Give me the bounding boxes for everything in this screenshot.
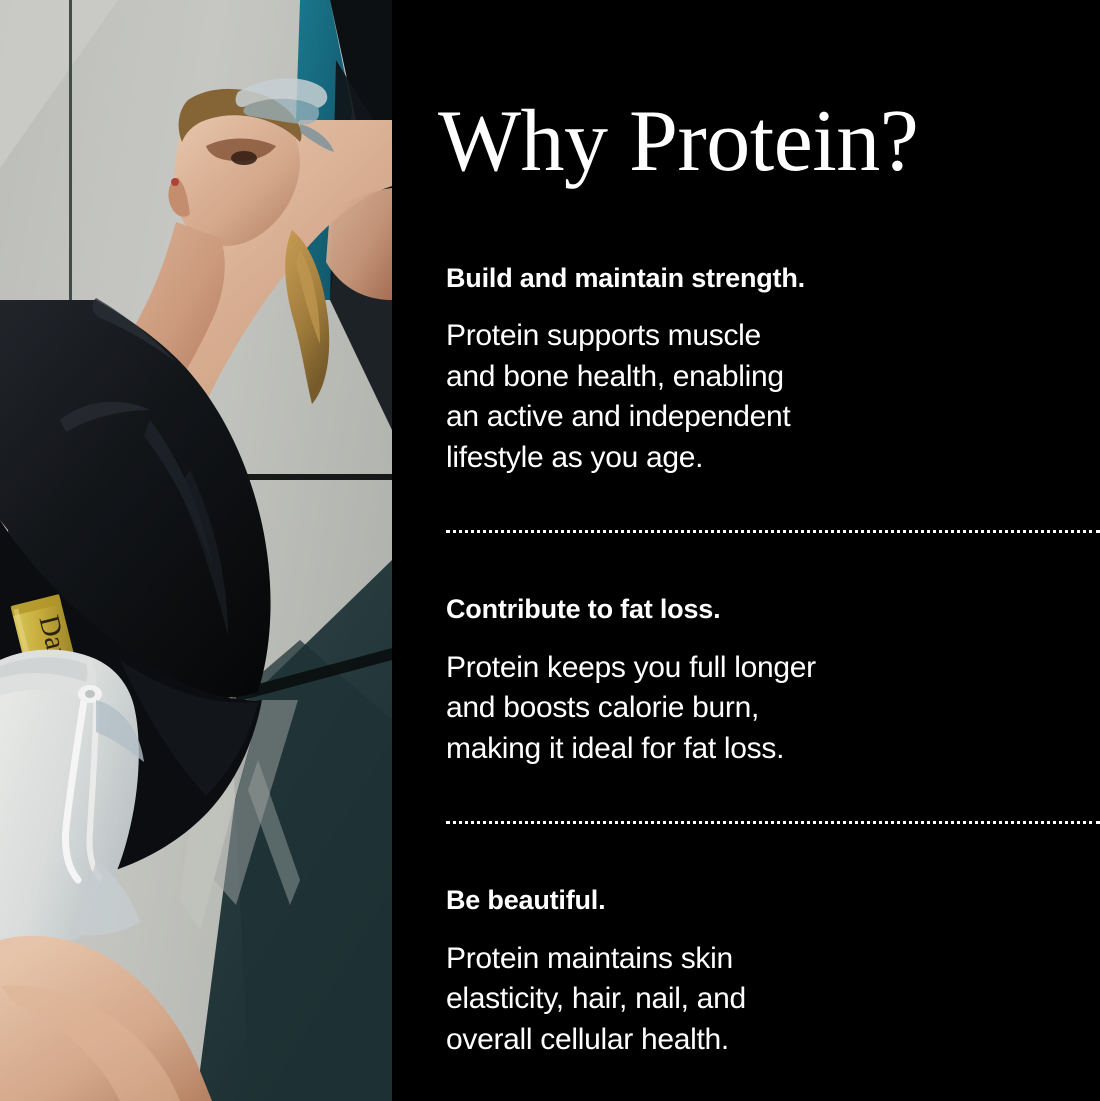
hero-photo: David (0, 0, 392, 1101)
benefit-item-fat-loss: Contribute to fat loss. Protein keeps yo… (392, 593, 1100, 769)
benefit-heading: Build and maintain strength. (446, 262, 1090, 294)
benefit-body: Protein supports muscle and bone health,… (446, 316, 1090, 478)
content-panel: Why Protein? Build and maintain strength… (392, 0, 1100, 1101)
spacer (392, 824, 1100, 884)
why-protein-card: David (0, 0, 1100, 1101)
spacer (392, 478, 1100, 530)
benefit-body: Protein maintains skin elasticity, hair,… (446, 939, 1090, 1061)
benefit-heading: Contribute to fat loss. (446, 593, 1090, 625)
benefit-item-beauty: Be beautiful. Protein maintains skin ela… (392, 884, 1100, 1060)
spacer (392, 769, 1100, 821)
hero-photo-illustration: David (0, 0, 392, 1101)
benefit-heading: Be beautiful. (446, 884, 1090, 916)
benefit-body: Protein keeps you full longer and boosts… (446, 648, 1090, 770)
spacer (392, 533, 1100, 593)
page-title: Why Protein? (438, 98, 918, 186)
benefit-item-strength: Build and maintain strength. Protein sup… (392, 262, 1100, 478)
benefits-list: Build and maintain strength. Protein sup… (392, 262, 1100, 1060)
